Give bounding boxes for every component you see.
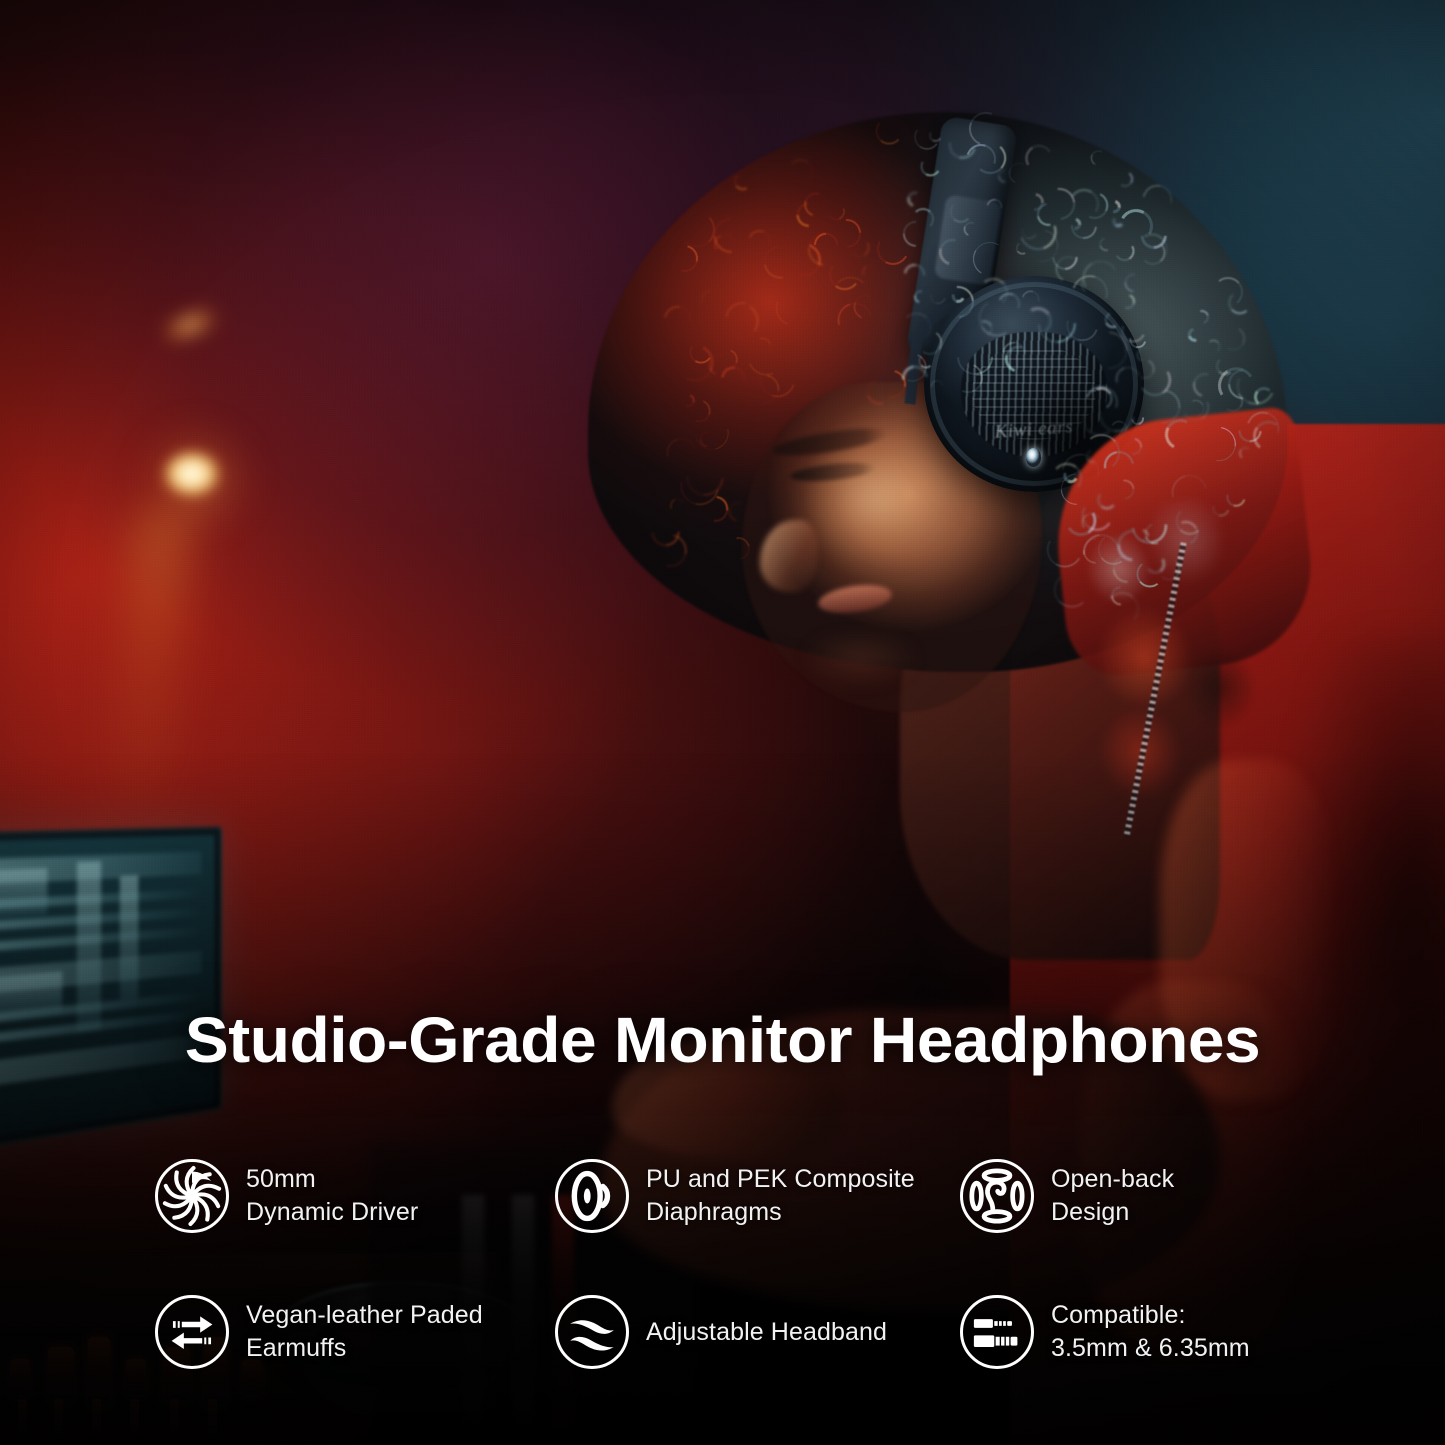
feature-item-dynamic-driver: 50mm Dynamic Driver [155, 1128, 555, 1264]
feature-label: 50mm Dynamic Driver [246, 1163, 418, 1229]
feature-label: PU and PEK Composite Diaphragms [646, 1163, 915, 1229]
feature-line-1: PU and PEK Composite [646, 1165, 915, 1193]
promo-image: Kiwi ears Studio-Grade Monitor Headphone… [0, 0, 1445, 1445]
feature-line-2: Earmuffs [246, 1332, 483, 1365]
feature-item-headband: Adjustable Headband [555, 1264, 960, 1400]
feature-label: Open-back Design [1051, 1163, 1174, 1229]
feature-line-1: 50mm [246, 1165, 316, 1193]
feature-line-1: Compatible: [1051, 1301, 1186, 1329]
fan-swirl-icon [155, 1159, 229, 1233]
feature-line-1: Vegan-leather Paded [246, 1301, 483, 1329]
bidirectional-arrows-icon [155, 1295, 229, 1369]
feature-label: Adjustable Headband [646, 1316, 887, 1349]
feature-line-2: Diaphragms [646, 1196, 915, 1229]
audio-jack-plugs-icon [960, 1295, 1034, 1369]
feature-grid: 50mm Dynamic Driver PU and PEK Composite… [155, 1128, 1315, 1400]
feature-line-1: Open-back [1051, 1165, 1174, 1193]
feature-item-earmuffs: Vegan-leather Paded Earmuffs [155, 1264, 555, 1400]
feature-item-diaphragms: PU and PEK Composite Diaphragms [555, 1128, 960, 1264]
ear-open-back-icon [960, 1159, 1034, 1233]
feature-item-open-back: Open-back Design [960, 1128, 1315, 1264]
feature-line-2: Dynamic Driver [246, 1196, 418, 1229]
wave-headband-icon [555, 1295, 629, 1369]
diaphragm-soundwave-icon [555, 1159, 629, 1233]
feature-item-compatibility: Compatible: 3.5mm & 6.35mm [960, 1264, 1315, 1400]
page-title: Studio-Grade Monitor Headphones [0, 1008, 1445, 1072]
feature-line-2: Design [1051, 1196, 1174, 1229]
feature-label: Vegan-leather Paded Earmuffs [246, 1299, 483, 1365]
feature-line-2: 3.5mm & 6.35mm [1051, 1332, 1250, 1365]
feature-label: Compatible: 3.5mm & 6.35mm [1051, 1299, 1250, 1365]
feature-line-1: Adjustable Headband [646, 1318, 887, 1346]
